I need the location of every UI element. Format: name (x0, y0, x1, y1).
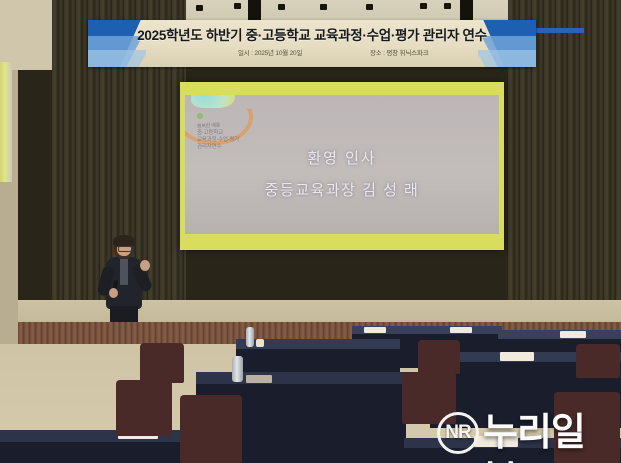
chair (418, 340, 460, 374)
phone-on-table (246, 375, 272, 383)
watermark: NR 누리일보 (437, 406, 617, 458)
projection-screen: 행복한 배움 중·고등학교 교육과정-수업-평가 관리자연수 환영 인사 중등교… (180, 82, 504, 250)
paper-cup (256, 339, 264, 347)
conference-photo: 2025학년도 하반기 중·고등학교 교육과정·수업·평가 관리자 연수 일시 … (0, 0, 621, 463)
slide-speaker-line: 중등교육과장 김 성 래 (185, 179, 499, 200)
water-bottle (246, 327, 254, 347)
slide-decoration-blob (191, 95, 235, 108)
ceiling-light-icon (234, 3, 241, 9)
slide-body: 환영 인사 중등교육과장 김 성 래 (185, 147, 499, 200)
slide-heading: 환영 인사 (185, 147, 499, 168)
ceiling-light-icon (420, 3, 427, 9)
banner-place: 장소 : 평창 휘닉스파크 (370, 47, 428, 57)
ceiling-light-icon (444, 3, 451, 9)
chair (576, 344, 620, 378)
wall-left-strip (0, 0, 52, 70)
ceiling-light-icon (196, 5, 203, 11)
nr-logo-icon: NR (437, 412, 479, 454)
event-banner: 2025학년도 하반기 중·고등학교 교육과정·수업·평가 관리자 연수 일시 … (88, 20, 536, 67)
handout-paper (500, 352, 534, 361)
ceiling-light-icon (320, 4, 327, 10)
handout-paper (560, 331, 586, 338)
banner-title: 2025학년도 하반기 중·고등학교 교육과정·수업·평가 관리자 연수 (88, 24, 536, 44)
glasses-icon (118, 246, 132, 252)
watermark-brand: 누리일보 (483, 410, 617, 463)
water-bottle (232, 356, 243, 382)
chair (140, 343, 184, 383)
presenter (96, 236, 154, 320)
secondary-screen-edge (0, 62, 12, 182)
chair (180, 395, 242, 463)
presentation-slide: 행복한 배움 중·고등학교 교육과정-수업-평가 관리자연수 환영 인사 중등교… (185, 95, 499, 234)
banner-date: 일시 : 2025년 10월 20일 (238, 47, 302, 57)
handout-paper (364, 327, 386, 333)
ceiling-light-icon (278, 4, 285, 10)
chair (116, 380, 172, 436)
slide-decoration-dot (197, 113, 203, 119)
handout-paper (450, 327, 472, 333)
ceiling-light-icon (366, 4, 373, 10)
